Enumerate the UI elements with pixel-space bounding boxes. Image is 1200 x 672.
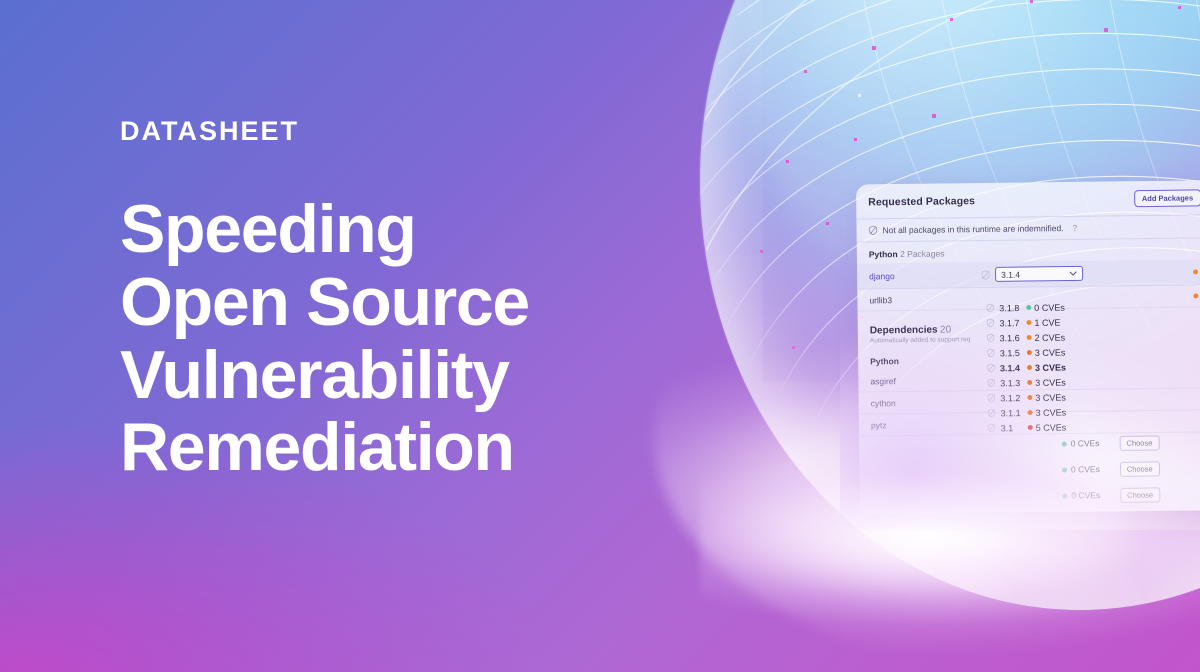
headline-line-4: Remediation (120, 411, 720, 484)
table-row[interactable]: 0 CVEs Choose (1062, 481, 1160, 508)
shield-icon (987, 393, 995, 402)
version-option-value: 3.1.7 (999, 318, 1023, 328)
shield-icon (987, 333, 995, 342)
version-option-cves: 1 CVE (1034, 317, 1060, 327)
version-option-value: 3.1.4 (1000, 363, 1024, 373)
severity-dot (1062, 441, 1067, 446)
shield-icon (987, 363, 995, 372)
version-option-selected[interactable]: 3.1.4 3 CVEs (985, 359, 1073, 375)
version-option-value: 3.1.5 (1000, 348, 1024, 358)
table-row[interactable]: 0 CVEs Choose (1062, 429, 1160, 456)
shield-icon (987, 408, 995, 417)
page-title: Speeding Open Source Vulnerability Remed… (120, 193, 720, 484)
severity-dot (1027, 335, 1032, 340)
hero-text-block: DATASHEET Speeding Open Source Vulnerabi… (120, 118, 720, 484)
table-row[interactable]: django 3.1.4 3 CVEs › (857, 258, 1200, 289)
panel-header: Requested Packages Add Packages Import f… (856, 179, 1200, 219)
severity-dot (1026, 305, 1031, 310)
headline-line-1: Speeding (120, 193, 720, 266)
dependency-trailing-column: 0 CVEs Choose 0 CVEs Choose 0 CVEs Choos… (1062, 429, 1161, 508)
shield-icon (987, 378, 995, 387)
version-option-cves: 3 CVEs (1035, 407, 1066, 417)
cve-count-label: 0 CVEs (1071, 438, 1100, 448)
cve-count: 0 CVEs (1062, 490, 1100, 500)
dependencies-language-label: Python (870, 356, 899, 366)
shield-icon (981, 269, 990, 279)
requested-group-count: 2 Packages (900, 249, 945, 260)
headline-line-2: Open Source (120, 266, 720, 339)
shield-icon (986, 318, 994, 327)
severity-dot (1193, 293, 1198, 298)
shield-icon (988, 423, 996, 432)
severity-dot (1026, 320, 1031, 325)
version-option-value: 3.1.6 (1000, 333, 1024, 343)
severity-dot (1193, 269, 1198, 274)
requested-group-language: Python (869, 249, 898, 259)
version-option-value: 3.1.3 (1000, 378, 1024, 388)
choose-button[interactable]: Choose (1120, 461, 1160, 476)
cve-count[interactable]: 1 CVE › (1193, 290, 1200, 301)
package-name[interactable]: cython (871, 397, 983, 408)
cve-count: 0 CVEs (1062, 464, 1100, 474)
version-option-cves: 3 CVEs (1035, 377, 1066, 387)
severity-dot (1027, 380, 1032, 385)
table-row[interactable]: 0 CVEs Choose (1062, 455, 1160, 482)
choose-button[interactable]: Choose (1120, 487, 1160, 502)
package-version-cell: 3.1.4 (981, 264, 1193, 282)
version-option-cves: 3 CVEs (1035, 362, 1066, 372)
severity-dot (1062, 467, 1067, 472)
version-option[interactable]: 3.1.5 3 CVEs (985, 344, 1073, 360)
version-option-cves: 3 CVEs (1035, 392, 1066, 402)
chevron-down-icon (1069, 271, 1077, 276)
choose-button[interactable]: Choose (1119, 435, 1159, 450)
version-option[interactable]: 3.1.3 3 CVEs (985, 374, 1073, 390)
version-dropdown-menu[interactable]: 3.1.8 0 CVEs 3.1.7 1 CVE 3.1.6 2 CVEs 3.… (984, 299, 1074, 435)
package-name[interactable]: django (869, 270, 981, 281)
severity-dot (1027, 395, 1032, 400)
version-option[interactable]: 3.1.1 3 CVEs (985, 404, 1073, 420)
severity-dot (1028, 425, 1033, 430)
cve-count: 0 CVEs (1062, 438, 1100, 448)
version-option-cves: 3 CVEs (1035, 347, 1066, 357)
cve-count[interactable]: 3 CVEs › (1193, 266, 1200, 277)
version-option-cves: 2 CVEs (1035, 332, 1066, 342)
severity-dot (1027, 350, 1032, 355)
version-option[interactable]: 3.1.8 0 CVEs (984, 299, 1072, 315)
version-option[interactable]: 3.1.7 1 CVE (984, 314, 1072, 330)
version-option-cves: 0 CVEs (1034, 302, 1065, 312)
severity-dot (1028, 410, 1033, 415)
panel-title: Requested Packages (868, 195, 975, 208)
shield-icon (868, 225, 877, 235)
version-option-value: 3.1.8 (999, 303, 1023, 313)
package-name[interactable]: urllib3 (869, 294, 981, 305)
dependencies-title: Dependencies (870, 325, 938, 337)
version-option-value: 3.1.2 (1000, 393, 1024, 403)
version-select[interactable]: 3.1.4 (995, 266, 1083, 282)
package-name[interactable]: pytz (871, 419, 983, 430)
help-icon[interactable]: ? (1072, 223, 1077, 233)
indemnified-notice-text: Not all packages in this runtime are ind… (882, 223, 1063, 235)
severity-dot (1062, 493, 1067, 498)
package-name[interactable]: asgiref (870, 375, 982, 386)
eyebrow-label: DATASHEET (120, 118, 720, 145)
panel-header-actions: Add Packages Import from (1134, 189, 1200, 208)
version-option[interactable]: 3.1.2 3 CVEs (985, 389, 1073, 405)
version-option[interactable]: 3.1.6 2 CVEs (985, 329, 1073, 345)
version-select-value: 3.1.4 (1001, 269, 1020, 279)
shield-icon (987, 348, 995, 357)
cve-count-label: 0 CVEs (1071, 464, 1100, 474)
shield-icon (986, 303, 994, 312)
severity-dot (1027, 365, 1032, 370)
dependencies-count: 20 (940, 324, 951, 335)
headline-line-3: Vulnerability (120, 339, 720, 412)
add-packages-button[interactable]: Add Packages (1134, 189, 1200, 207)
version-option-value: 3.1.1 (1000, 408, 1024, 418)
version-option-value: 3.1 (1001, 423, 1025, 433)
cve-count-label: 0 CVEs (1071, 490, 1100, 500)
package-version-cell (981, 296, 1193, 299)
